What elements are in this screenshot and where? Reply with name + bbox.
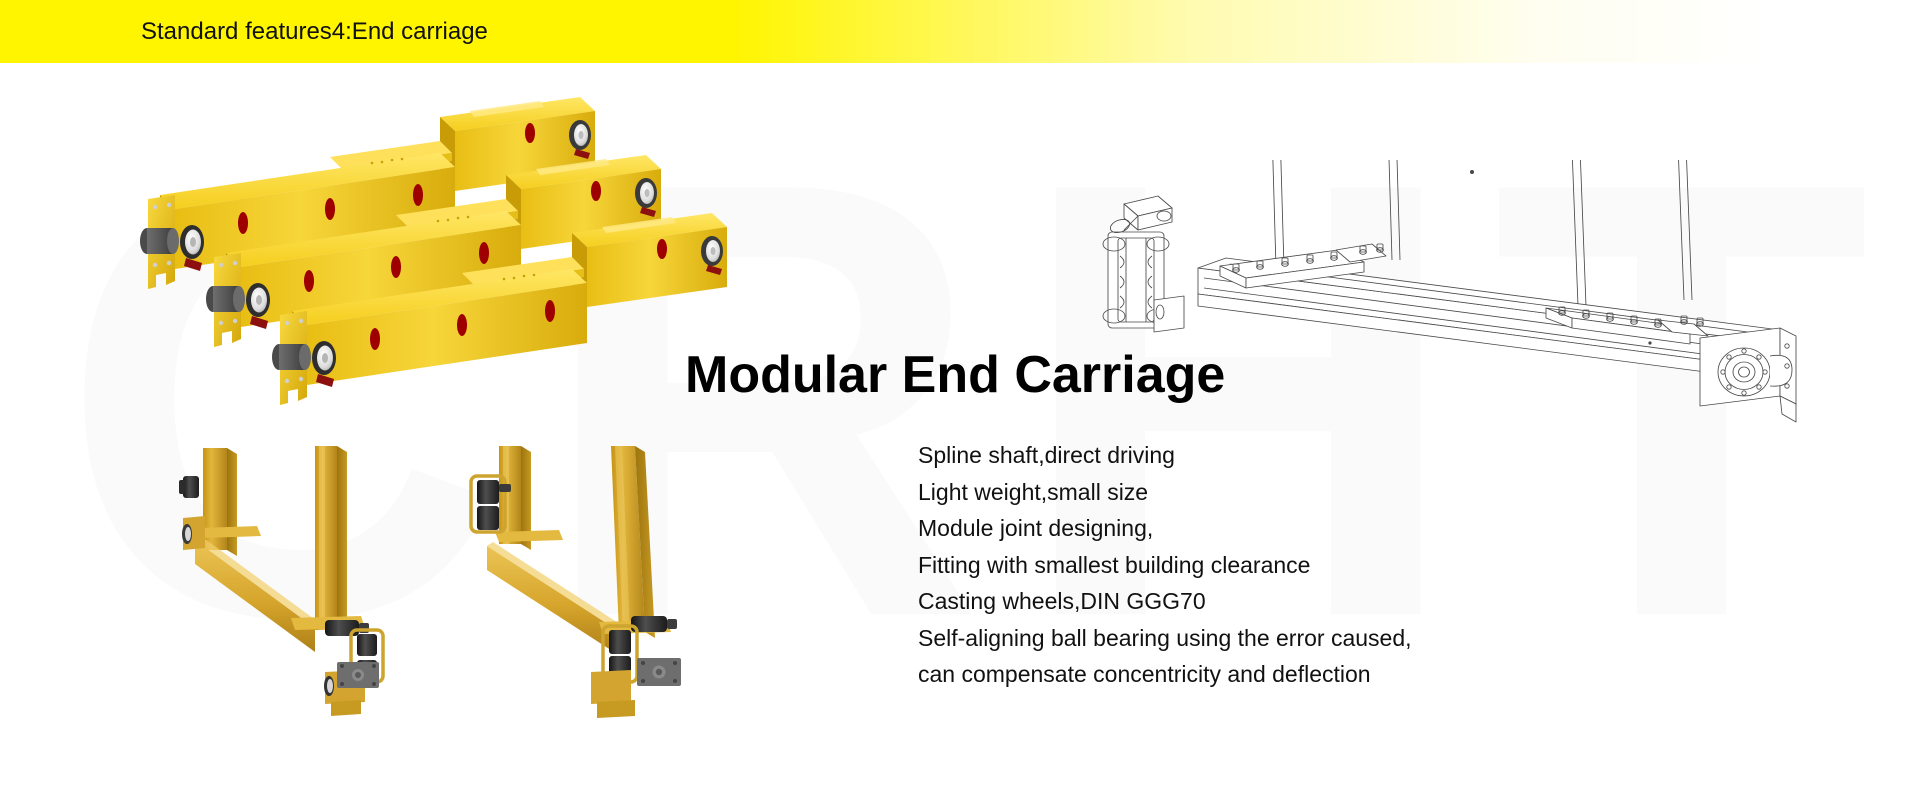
drive-assembly-left-bottom bbox=[324, 620, 383, 716]
guide-roller-right-top bbox=[471, 476, 511, 532]
left-end-truck-rollers bbox=[1103, 196, 1184, 332]
feature-item: Fitting with smallest building clearance bbox=[918, 547, 1538, 584]
page-title: Modular End Carriage bbox=[685, 345, 1225, 405]
feature-list: Spline shaft,direct driving Light weight… bbox=[918, 437, 1538, 693]
end-bracket-left bbox=[182, 516, 205, 550]
title-banner: Standard features4:End carriage bbox=[0, 0, 1920, 63]
feature-item: Module joint designing, bbox=[918, 510, 1538, 547]
slide-content-area: Modular End Carriage Spline shaft,direct… bbox=[0, 0, 1920, 800]
v-leg-assemblies-illustration bbox=[165, 440, 845, 750]
accent-hole bbox=[413, 184, 423, 206]
accent-hole bbox=[238, 212, 248, 234]
guide-roller-left-top bbox=[179, 476, 199, 498]
drive-motor-stub-1 bbox=[140, 228, 179, 254]
leg-assembly-left bbox=[179, 446, 383, 716]
feature-item: Self-aligning ball bearing using the err… bbox=[918, 620, 1538, 657]
banner-title-text: Standard features4:End carriage bbox=[141, 18, 488, 46]
feature-item: Spline shaft,direct driving bbox=[918, 437, 1538, 474]
drive-motor-stub-2 bbox=[206, 286, 245, 312]
feature-item: can compensate concentricity and deflect… bbox=[918, 656, 1538, 693]
feature-item: Casting wheels,DIN GGG70 bbox=[918, 583, 1538, 620]
leg-assembly-right bbox=[471, 446, 681, 718]
right-wheel-flange bbox=[1700, 328, 1796, 422]
drive-motor-stub-3 bbox=[272, 344, 311, 370]
feature-item: Light weight,small size bbox=[918, 474, 1538, 511]
accent-hole bbox=[525, 123, 535, 143]
accent-hole bbox=[325, 198, 335, 220]
